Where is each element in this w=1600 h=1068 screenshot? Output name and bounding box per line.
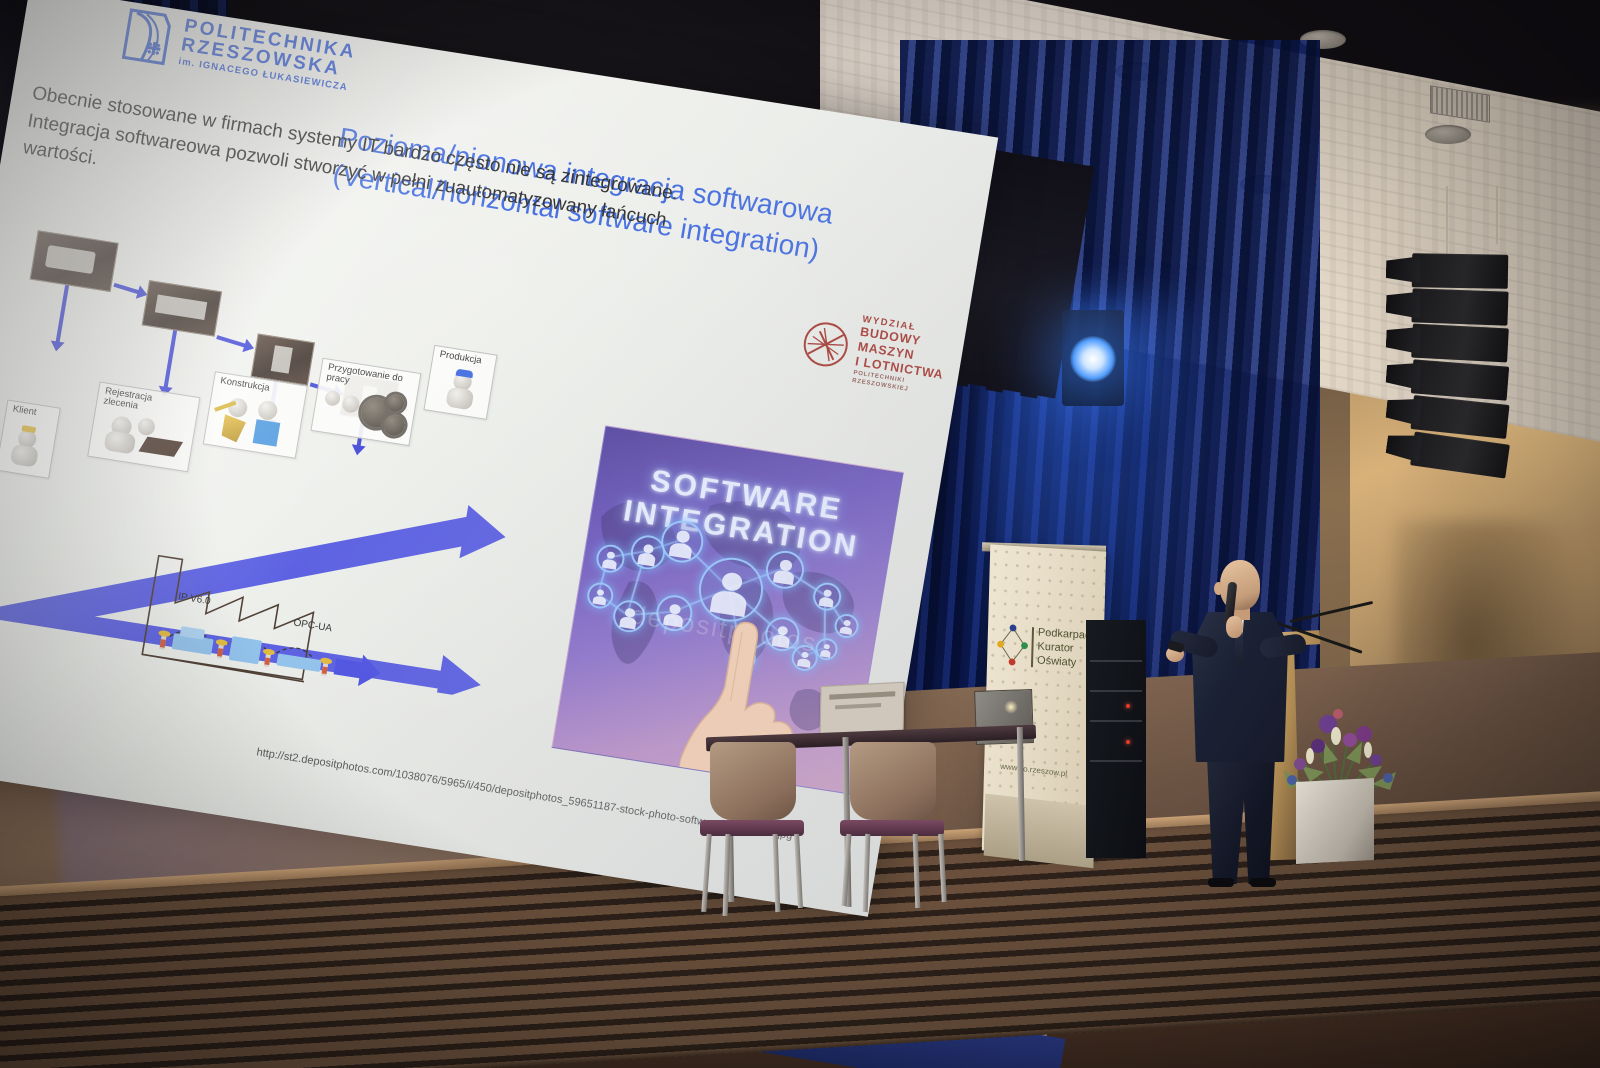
ceiling-downlight <box>1425 125 1471 144</box>
banner-base <box>984 794 1095 869</box>
baffle-tooth <box>1004 377 1022 390</box>
line-array-speaker <box>1404 186 1564 516</box>
flow-arrow <box>113 283 139 294</box>
flow-arrow <box>216 335 246 348</box>
si-network-node <box>811 581 843 613</box>
step-label-4: Produkcja <box>439 350 482 367</box>
presenter-hand-holding-mic <box>1226 616 1243 638</box>
si-network-node <box>585 581 615 611</box>
si-network-node <box>763 548 807 591</box>
equipment-rack <box>1086 620 1146 858</box>
faculty-logo: WYDZIAŁ BUDOWY MASZYN I LOTNICTWA POLITE… <box>796 305 966 400</box>
politechnika-mark-icon <box>117 7 178 70</box>
step-label-0: Klient <box>12 404 37 418</box>
flow-arrow-down <box>164 330 178 388</box>
flow-arrow-down <box>56 285 70 343</box>
si-network-node <box>594 543 626 575</box>
value-chain-diagram: Klient Rejestracja zlecenia Konstrukcja <box>0 219 644 778</box>
baffle-tooth <box>1020 380 1039 399</box>
process-photo-1 <box>30 230 119 292</box>
politechnika-wordmark: POLITECHNIKA RZESZOWSKA im. IGNACEGO ŁUK… <box>178 17 358 94</box>
monitor-glare <box>1004 700 1018 714</box>
presenter-shoe <box>1250 878 1276 887</box>
presenter-shoe <box>1208 878 1234 887</box>
step-card-konstrukcja: Konstrukcja <box>203 371 308 459</box>
baffle-tooth <box>969 371 987 384</box>
kurator-logo-icon <box>995 623 1030 667</box>
presenter-legs <box>1204 756 1278 884</box>
presenter-ear <box>1214 582 1223 595</box>
process-photo-2 <box>142 280 223 337</box>
stage-light-blue <box>1070 336 1116 382</box>
step-label-2: Konstrukcja <box>219 376 270 394</box>
step-card-przygotowanie: Przygotowanie do pracy <box>310 358 421 446</box>
politechnika-logo: POLITECHNIKA RZESZOWSKA im. IGNACEGO ŁUK… <box>117 7 358 99</box>
presenter <box>1168 560 1318 890</box>
faculty-wordmark: WYDZIAŁ BUDOWY MASZYN I LOTNICTWA POLITE… <box>851 314 966 401</box>
baffle-tooth <box>986 374 1005 393</box>
faculty-mark-icon <box>798 317 853 372</box>
step-card-produkcja: Produkcja <box>423 345 497 420</box>
si-network-node <box>833 612 861 639</box>
conference-photo-scene: POLITECHNIKA RZESZOWSKA im. IGNACEGO ŁUK… <box>0 0 1600 1068</box>
step-label-3: Przygotowanie do pracy <box>325 363 403 395</box>
baffle-tooth <box>1038 383 1056 396</box>
step-label-1: Rejestracja zlecenia <box>102 387 152 415</box>
